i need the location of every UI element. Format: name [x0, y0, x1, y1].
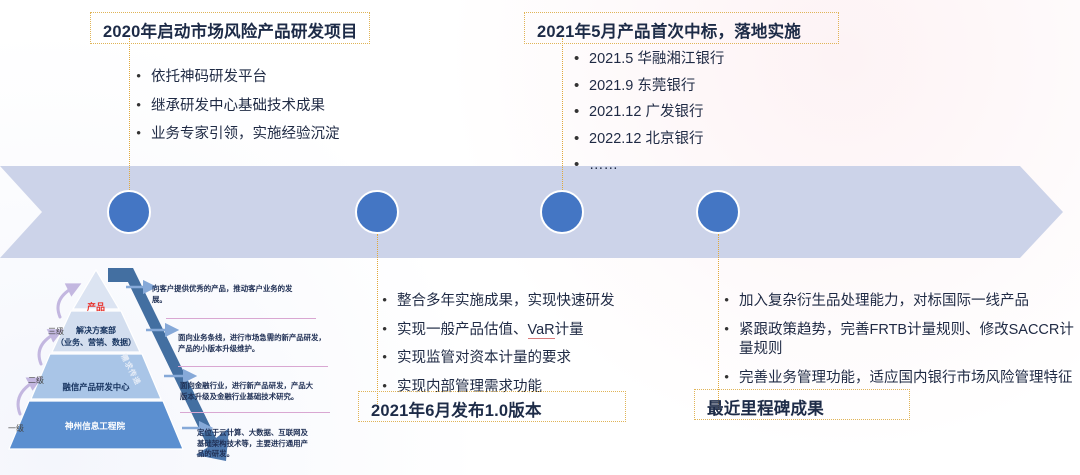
list-item: 2022.12 北京银行 — [572, 130, 832, 150]
list-item: 实现监管对资本计量的要求 — [380, 349, 680, 369]
title-year: 2020 — [103, 23, 141, 41]
connector-node1-up — [129, 38, 130, 190]
pyramid-divider-1 — [166, 318, 316, 319]
pyramid-desc-2-line2: 产品的小版本升级维护。 — [178, 344, 338, 355]
pyramid-desc-3-line1: 面向金融行业，进行新产品研发，产品大 — [180, 381, 340, 392]
timeline-node-3[interactable] — [540, 190, 584, 234]
callout-start-project-bullets: 依托神码研发平台 继承研发中心基础技术成果 业务专家引领，实施经验沉淀 — [134, 68, 404, 154]
pyramid-level-1: 一级 — [8, 423, 24, 434]
callout-first-bid-bullets: 2021.5 华融湘江银行 2021.9 东莞银行 2021.12 广发银行 2… — [572, 50, 832, 185]
pyramid-desc-3: 面向金融行业，进行新产品研发，产品大 版本升级及金融行业基础技术研究。 — [180, 381, 340, 402]
title-rest: 月产品首次中标，落地实施 — [601, 22, 801, 41]
pyramid-desc-2: 面向业务条线，进行市场急需的新产品研发， 产品的小版本升级维护。 — [178, 333, 338, 354]
list-item: 依托神码研发平台 — [134, 68, 404, 88]
list-item: 整合多年实施成果，实现快速研发 — [380, 292, 680, 312]
callout-recent-milestone-title[interactable]: 最近里程碑成果 — [694, 389, 910, 420]
callout-release-v1-bullets: 整合多年实施成果，实现快速研发 实现一般产品估值、VaR计量 实现监管对资本计量… — [380, 292, 680, 406]
timeline-node-2[interactable] — [355, 190, 399, 234]
pyramid-level-2: 二级 — [28, 375, 44, 386]
term-var: VaR — [528, 322, 555, 339]
connector-node3-up — [562, 38, 563, 190]
pyramid-desc-4-line3: 品的研发。 — [197, 449, 342, 460]
list-item: 2021.12 广发银行 — [572, 103, 832, 123]
pyramid-divider-3 — [180, 412, 330, 413]
pyramid-desc-4-line1: 定位于云计算、大数据、互联网及 — [197, 428, 342, 439]
title-rest: 年启动市场风险产品研发项目 — [141, 22, 358, 41]
list-item: 2021.9 东莞银行 — [572, 77, 832, 97]
list-item: 实现一般产品估值、VaR计量 — [380, 321, 680, 341]
list-item: 加入复杂衍生品处理能力，对标国际一线产品 — [722, 292, 1074, 312]
list-item: 2021.5 华融湘江银行 — [572, 50, 832, 70]
title-month: 5 — [591, 23, 600, 41]
callout-release-v1-title-text: 2021年6月发布1.0版本 — [371, 397, 613, 421]
list-item: 业务专家引领，实施经验沉淀 — [134, 125, 404, 145]
pyramid-level-3: 三级 — [48, 326, 64, 337]
connector-node2-down — [377, 234, 378, 410]
callout-start-project-title-text: 2020年启动市场风险产品研发项目 — [103, 18, 357, 42]
title-year: 2021 — [537, 23, 575, 41]
list-item: 继承研发中心基础技术成果 — [134, 97, 404, 117]
pyramid-desc-1: 向客户提供优秀的产品，推动客户业务的发展。 — [152, 284, 302, 305]
callout-recent-milestone-title-text: 最近里程碑成果 — [707, 395, 897, 419]
list-item: …… — [572, 156, 832, 176]
pyramid-desc-4-line2: 基础架构技术等，主要进行通用产 — [197, 439, 342, 450]
pyramid-tier2-line2: （业务、营销、数据） — [46, 337, 146, 349]
callout-release-v1-title[interactable]: 2021年6月发布1.0版本 — [358, 391, 626, 422]
pyramid-tier1-label: 产品 — [73, 300, 119, 313]
pyramid-tier4-label: 神州信息工程院 — [5, 420, 185, 432]
title-mid: 年 — [575, 22, 592, 41]
pyramid-desc-4: 定位于云计算、大数据、互联网及 基础架构技术等，主要进行通用产 品的研发。 — [197, 428, 342, 460]
pyramid-desc-2-line1: 面向业务条线，进行市场急需的新产品研发， — [178, 333, 338, 344]
pyramid-desc-1-text: 向客户提供优秀的产品，推动客户业务的发展。 — [152, 284, 292, 304]
callout-first-bid-title-text: 2021年5月产品首次中标，落地实施 — [537, 18, 826, 42]
pyramid-tier3-label: 融信产品研发中心 — [26, 381, 166, 393]
callout-recent-milestone-bullets: 加入复杂衍生品处理能力，对标国际一线产品 紧跟政策趋势，完善FRTB计量规则、修… — [722, 292, 1074, 397]
timeline-node-1[interactable] — [107, 190, 151, 234]
callout-start-project-title[interactable]: 2020年启动市场风险产品研发项目 — [90, 12, 370, 44]
pyramid-desc-3-line2: 版本升级及金融行业基础技术研究。 — [180, 392, 340, 403]
timeline-node-4[interactable] — [696, 190, 740, 234]
callout-first-bid-title[interactable]: 2021年5月产品首次中标，落地实施 — [524, 12, 839, 44]
pyramid-divider-2 — [178, 366, 328, 367]
list-item: 紧跟政策趋势，完善FRTB计量规则、修改SACCR计量规则 — [722, 321, 1074, 360]
connector-node4-down — [718, 234, 719, 410]
list-item: 完善业务管理功能，适应国内银行市场风险管理特征 — [722, 369, 1074, 389]
